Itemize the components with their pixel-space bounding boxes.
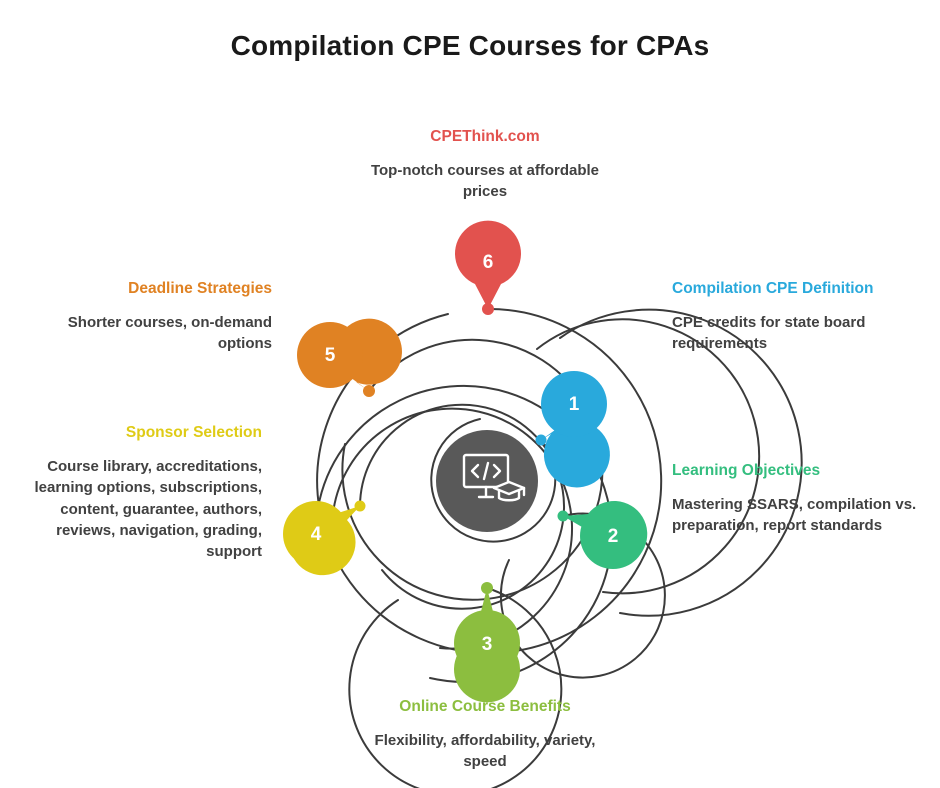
callout-body-6: Top-notch courses at affordable prices <box>355 160 615 203</box>
callout-heading-5: Deadline Strategies <box>20 278 272 300</box>
node-bubble-6[interactable]: 6 <box>455 221 521 309</box>
bubble-1-number: 1 <box>569 394 580 415</box>
callout-heading-1: Compilation CPE Definition <box>672 278 922 300</box>
center-circle <box>436 430 538 532</box>
callout-heading-4: Sponsor Selection <box>20 422 262 444</box>
spiral-diagram: 6 1 2 3 4 5 <box>0 0 940 788</box>
bubble-3-number: 3 <box>482 634 493 655</box>
callout-heading-3: Online Course Benefits <box>355 696 615 718</box>
node-bubble-1[interactable]: 1 <box>541 371 610 487</box>
callout-node-1: Compilation CPE Definition CPE credits f… <box>672 278 922 355</box>
callout-body-5: Shorter courses, on-demand options <box>20 312 272 355</box>
callout-node-6: CPEThink.com Top-notch courses at afford… <box>355 126 615 203</box>
callout-body-2: Mastering SSARS, compilation vs. prepara… <box>672 494 922 537</box>
node-bubble-4[interactable]: 4 <box>283 501 360 575</box>
callout-node-3: Online Course Benefits Flexibility, affo… <box>355 696 615 773</box>
callout-body-1: CPE credits for state board requirements <box>672 312 922 355</box>
callout-heading-6: CPEThink.com <box>355 126 615 148</box>
node-bubble-5[interactable]: 5 <box>297 319 402 391</box>
callout-node-4: Sponsor Selection Course library, accred… <box>20 422 262 562</box>
bubble-5-number: 5 <box>325 345 336 366</box>
callout-node-5: Deadline Strategies Shorter courses, on-… <box>20 278 272 355</box>
bubble-6-number: 6 <box>483 252 494 273</box>
node-bubble-2[interactable]: 2 <box>563 501 647 569</box>
callout-heading-2: Learning Objectives <box>672 460 922 482</box>
callout-body-4: Course library, accreditations, learning… <box>20 456 262 562</box>
center-node <box>436 430 538 532</box>
callout-body-3: Flexibility, affordability, variety, spe… <box>355 730 615 773</box>
bubble-4-number: 4 <box>311 524 322 545</box>
node-bubble-3[interactable]: 3 <box>454 588 520 702</box>
bubble-2-number: 2 <box>608 526 619 547</box>
callout-node-2: Learning Objectives Mastering SSARS, com… <box>672 460 922 537</box>
